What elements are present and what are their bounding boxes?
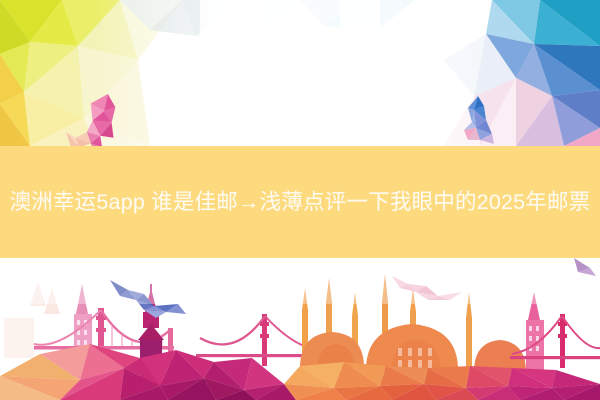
low-poly-skyline-illustration	[0, 258, 600, 400]
bottom-artwork-band	[0, 258, 600, 400]
article-banner-image: 澳洲幸运5app 谁是佳邮→浅薄点评一下我眼中的2025年邮票	[0, 0, 600, 400]
low-poly-header-illustration	[0, 0, 600, 146]
top-artwork-band	[0, 0, 600, 146]
title-container: 澳洲幸运5app 谁是佳邮→浅薄点评一下我眼中的2025年邮票	[0, 146, 600, 258]
page-title: 澳洲幸运5app 谁是佳邮→浅薄点评一下我眼中的2025年邮票	[2, 184, 598, 220]
